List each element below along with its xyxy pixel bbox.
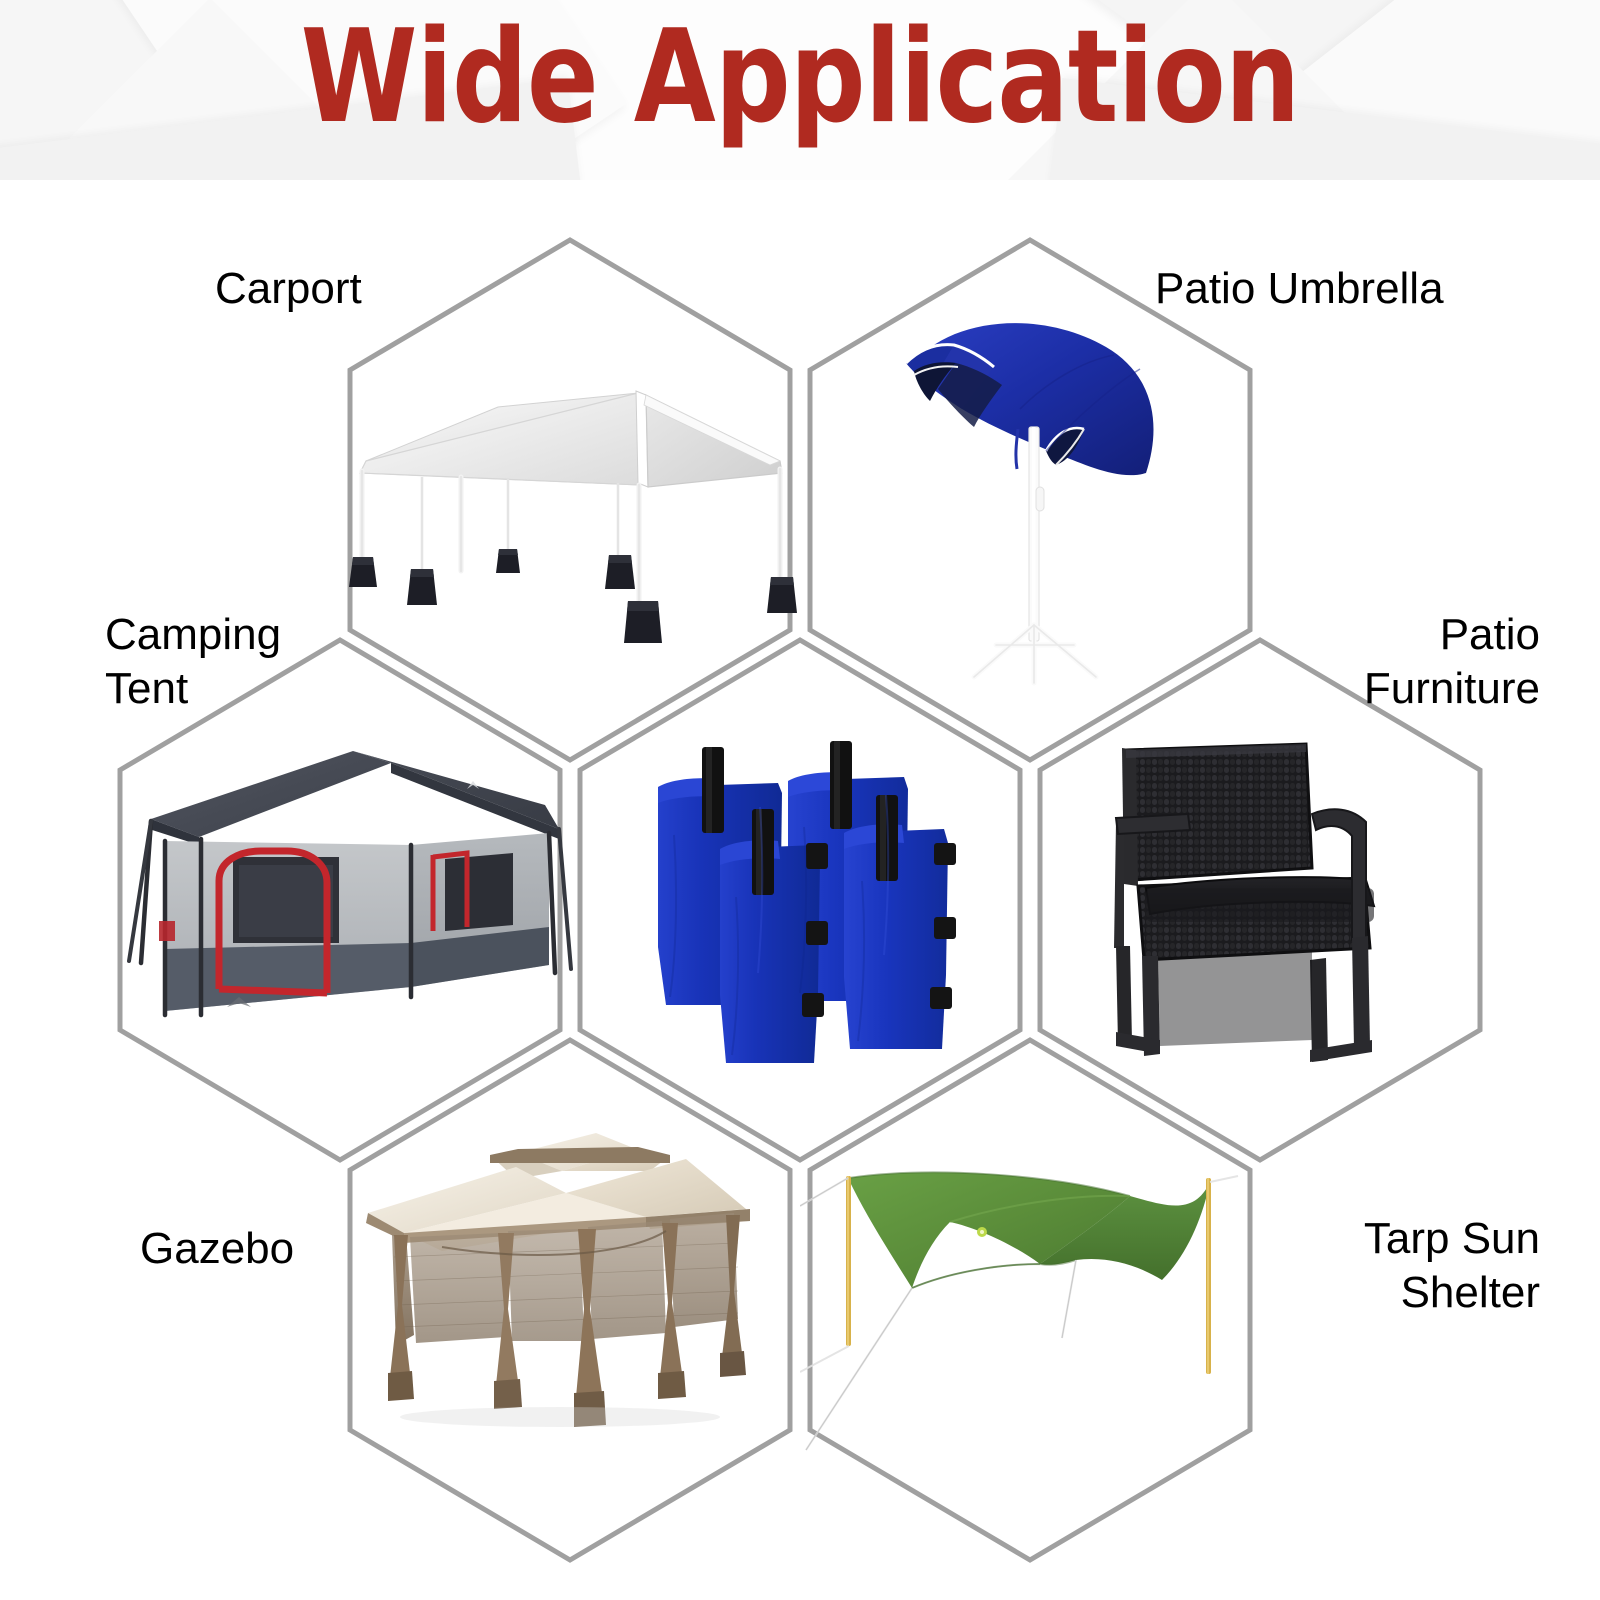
label-carport: Carport [215,262,362,316]
header-banner: Wide Application [0,0,1600,180]
image-camping-tent [115,725,595,1045]
label-gazebo: Gazebo [140,1222,294,1276]
label-tarp-sun-shelter: Tarp Sun Shelter [1200,1212,1540,1320]
image-patio-furniture [1080,710,1420,1070]
image-gazebo [350,1105,770,1435]
infographic-page: Wide Application Carport Pati [0,0,1600,1600]
image-tarp-sun-shelter [800,1160,1240,1460]
label-patio-furniture: Patio Furniture [1200,608,1540,716]
image-weight-bags [600,715,980,1070]
label-camping-tent: Camping Tent [105,608,281,716]
image-patio-umbrella [870,305,1180,690]
page-title: Wide Application [64,8,1536,148]
label-patio-umbrella: Patio Umbrella [1155,262,1444,316]
image-carport [340,365,800,655]
